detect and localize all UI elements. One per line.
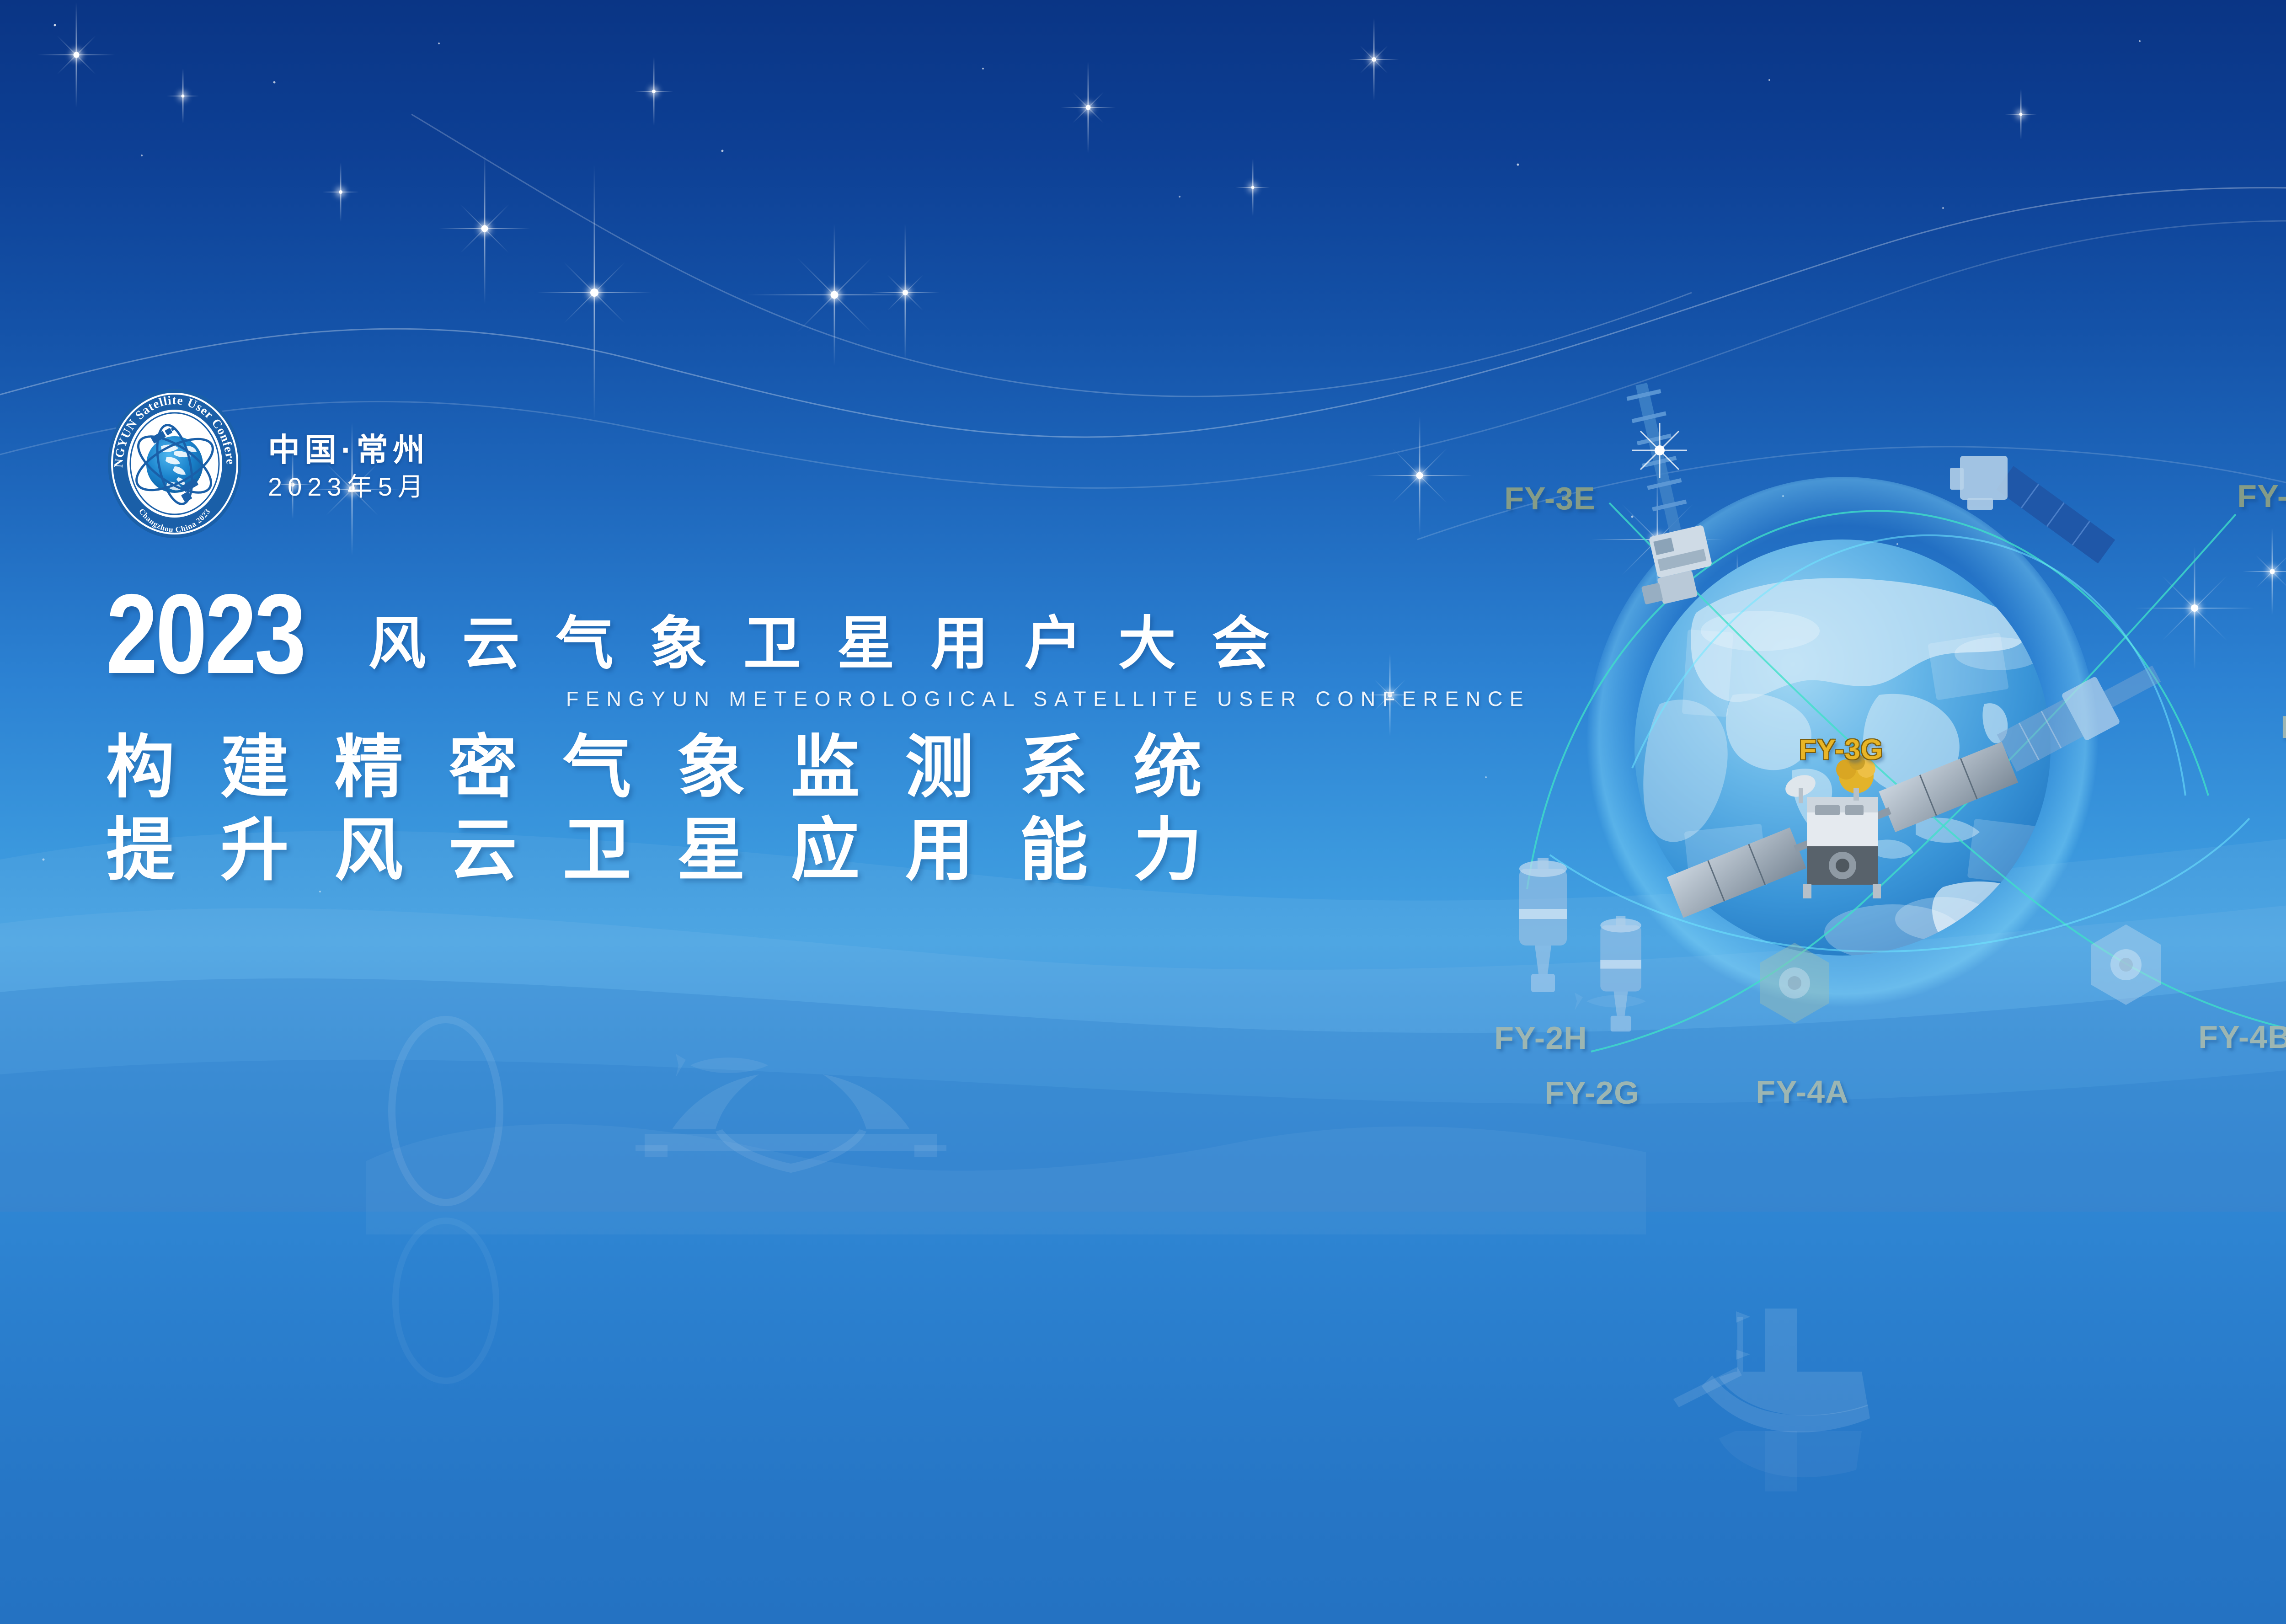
fy-3e-sparkle: [1632, 423, 1687, 478]
globe-satellite-scene: FY-3E FY-3C FY-3D FY-3G FY-2H FY-2G FY-4…: [1413, 357, 2286, 1134]
changzhou-landmark-silhouette: [636, 1074, 946, 1173]
satellite-label-fy-4b: FY-4B: [2198, 1019, 2286, 1055]
satellite-label-fy-4a: FY-4A: [1756, 1074, 1848, 1110]
sailing-boat-silhouette: [1673, 1309, 1870, 1432]
satellite-label-fy-3d: FY-3D: [2281, 709, 2286, 745]
poster-canvas: FENGYUN Satellite User Conference Changz…: [0, 0, 2286, 1624]
conference-logo-block: FENGYUN Satellite User Conference Changz…: [106, 388, 429, 540]
distant-hills: [366, 1124, 1646, 1234]
ring-tower-silhouette: [392, 1020, 500, 1202]
satellite-label-fy-3e: FY-3E: [1504, 480, 1596, 517]
venue-date: 2023年5月: [268, 474, 429, 500]
conference-emblem: FENGYUN Satellite User Conference Changz…: [106, 388, 243, 540]
satellite-fy-4b: [2091, 924, 2161, 1005]
venue-city: 中国·常州: [268, 434, 429, 466]
year-2023: 2023: [106, 590, 304, 678]
satellite-label-fy-2g: FY-2G: [1544, 1074, 1639, 1111]
boat-reflection: [1719, 1431, 1862, 1491]
satellite-fy-2g: [1600, 916, 1641, 1031]
satellite-label-fy-3c: FY-3C: [2237, 478, 2286, 514]
ring-tower-reflection: [395, 1221, 496, 1381]
satellite-label-fy-2h: FY-2H: [1494, 1020, 1587, 1056]
satellite-fy-2h: [1519, 858, 1567, 992]
conference-title-cn: 风 云 气 象 卫 星 用 户 大 会: [369, 615, 1280, 678]
emblem-svg: FENGYUN Satellite User Conference Changz…: [106, 388, 243, 540]
satellite-label-fy-3g: FY-3G: [1799, 734, 1883, 766]
venue-info: 中国·常州 2023年5月: [268, 427, 429, 500]
